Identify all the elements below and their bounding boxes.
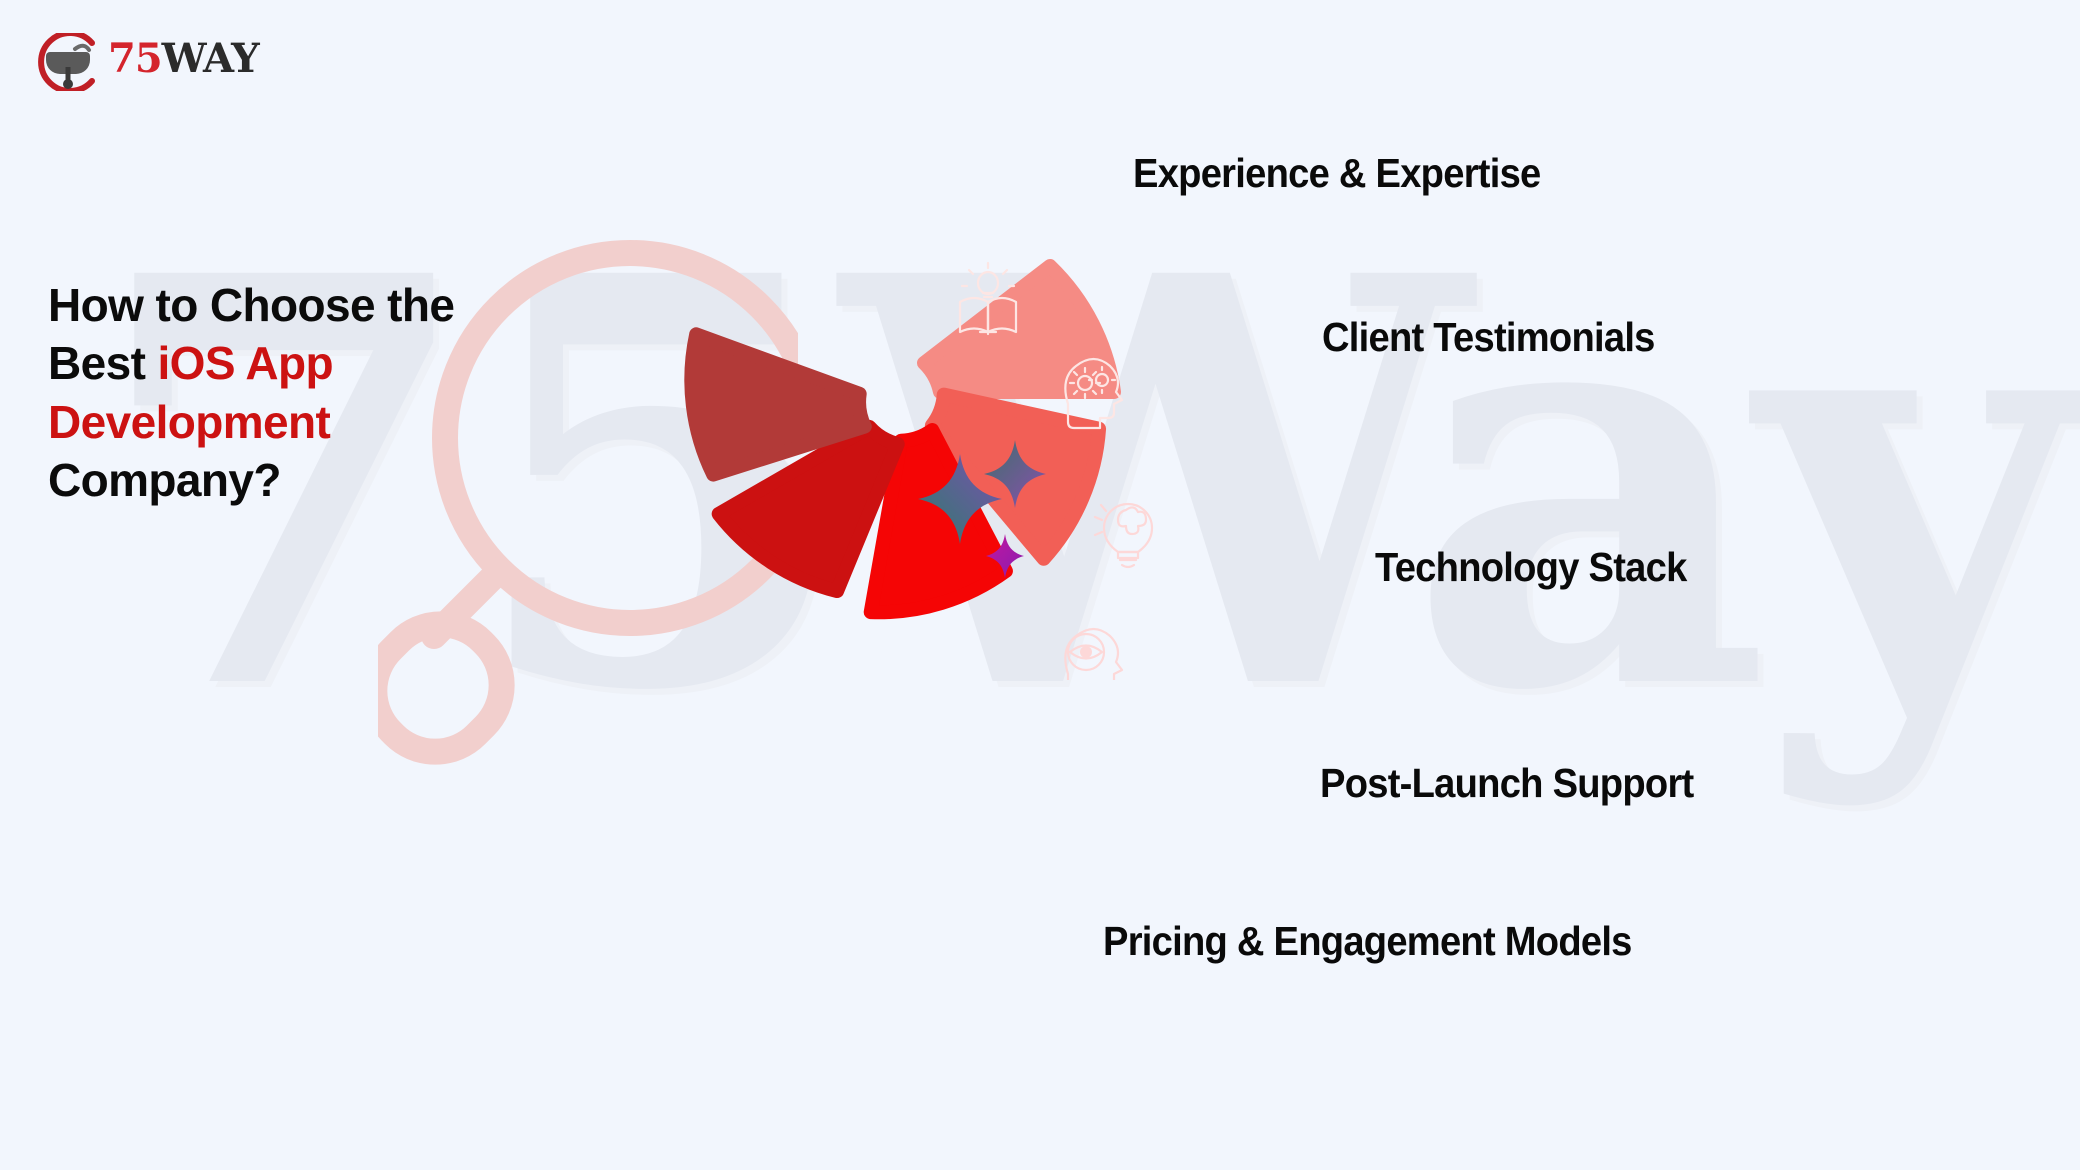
headline-line-4: Company?: [48, 454, 281, 506]
segment-label-pricing-engagement-models[interactable]: Pricing & Engagement Models: [1103, 918, 1632, 965]
puzzle-lightbulb-icon: [1095, 504, 1152, 567]
headline-line-1: How to Choose the: [48, 279, 454, 331]
logo-mark-icon: [30, 33, 108, 91]
sparkle-decorations: [918, 438, 1088, 608]
headline-line-2-accent: iOS App: [158, 337, 334, 389]
donut-chart: A 文: [620, 120, 1180, 680]
segment-label-post-launch-support[interactable]: Post-Launch Support: [1320, 760, 1693, 807]
logo-text-75: 75: [108, 35, 162, 82]
segment-label-experience-expertise[interactable]: Experience & Expertise: [1133, 150, 1541, 197]
logo-text-way: WAY: [162, 35, 259, 82]
logo-wordmark: 75WAY: [108, 39, 259, 79]
sparkle-small-icon: [986, 534, 1024, 578]
logo[interactable]: 75WAY: [30, 33, 230, 93]
segment-label-technology-stack[interactable]: Technology Stack: [1375, 544, 1687, 591]
donut-segment-experience-expertise[interactable]: [924, 263, 1114, 392]
head-eye-icon: [1065, 629, 1122, 680]
page-title: How to Choose the Best iOS App Developme…: [48, 276, 568, 510]
headline-line-2-plain: Best: [48, 337, 158, 389]
headline-line-3-accent: Development: [48, 396, 330, 448]
segment-label-client-testimonials[interactable]: Client Testimonials: [1322, 314, 1655, 361]
sparkle-large-icon: [918, 454, 1002, 544]
